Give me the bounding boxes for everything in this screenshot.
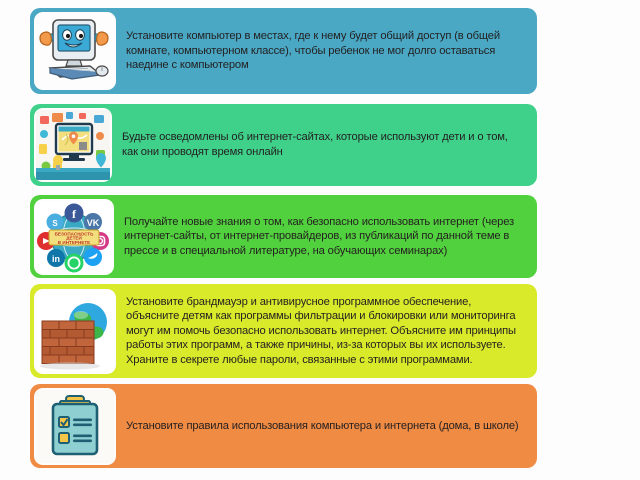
monitor-website-icons-icon (34, 108, 112, 182)
tip-text: Установите компьютер в местах, где к нем… (116, 29, 537, 73)
tip-row: Установите компьютер в местах, где к нем… (30, 8, 537, 94)
tip-row: Установите правила использования компьют… (30, 384, 537, 468)
firewall-brick-wall-globe-icon (34, 289, 116, 374)
clipboard-checklist-icon (34, 388, 116, 465)
tip-text: Получайте новые знания о том, как безопа… (114, 215, 537, 259)
infographic-root: Установите компьютер в местах, где к нем… (0, 0, 640, 480)
tip-text: Установите правила использования компьют… (116, 419, 537, 434)
social-media-globe-safety-icon: f VK S in БЕЗОПАСНОСТЬ ДЕТЕЙ (34, 199, 114, 275)
svg-text:В ИНТЕРНЕТЕ: В ИНТЕРНЕТЕ (58, 239, 90, 244)
svg-text:VK: VK (87, 218, 100, 228)
tip-text: Будьте осведомлены об интернет-сайтах, к… (112, 130, 537, 159)
tip-row: Установите брандмауэр и антивирусное про… (30, 284, 537, 378)
svg-text:S: S (52, 219, 58, 228)
tip-row: Будьте осведомлены об интернет-сайтах, к… (30, 104, 537, 186)
svg-text:in: in (52, 254, 60, 264)
tip-text: Установите брандмауэр и антивирусное про… (116, 295, 537, 368)
cartoon-computer-thumbs-up-icon (34, 12, 116, 90)
tip-row: f VK S in БЕЗОПАСНОСТЬ ДЕТЕЙ (30, 195, 537, 278)
